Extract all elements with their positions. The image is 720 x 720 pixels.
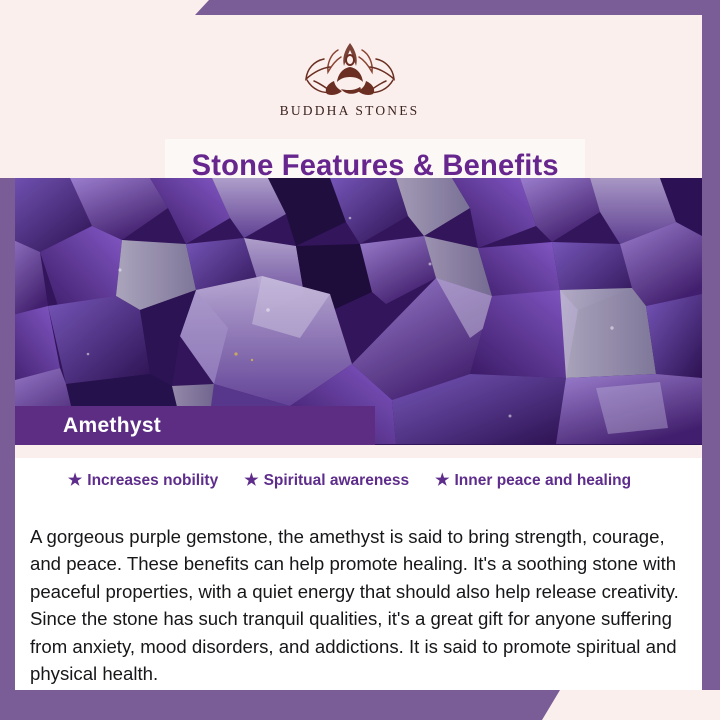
top-accent-band <box>195 0 720 15</box>
benefit-item-1: ★ Increases nobility <box>68 472 218 490</box>
right-accent-band <box>702 0 720 690</box>
benefit-label-1: Increases nobility <box>87 472 218 490</box>
amethyst-hero-image <box>0 178 702 445</box>
brand-name: BUDDHA STONES <box>280 103 420 119</box>
stone-description: A gorgeous purple gemstone, the amethyst… <box>30 523 686 688</box>
benefit-item-3: ★ Inner peace and healing <box>435 472 631 490</box>
bottom-right-cream-corner <box>540 690 720 720</box>
infographic-page: BUDDHA STONES Stone Features & Benefits <box>0 0 720 720</box>
lotus-meditation-icon <box>294 37 406 99</box>
benefits-row: ★ Increases nobility ★ Spiritual awarene… <box>15 466 702 496</box>
cream-divider-strip <box>15 445 702 458</box>
star-icon: ★ <box>435 473 449 489</box>
star-icon: ★ <box>244 473 258 489</box>
stone-name-label: Amethyst <box>15 414 161 438</box>
bottom-accent-band <box>0 690 560 720</box>
left-accent-band <box>0 178 15 720</box>
header-inner: BUDDHA STONES Stone Features & Benefits <box>15 15 702 178</box>
star-icon: ★ <box>68 473 82 489</box>
benefit-label-3: Inner peace and healing <box>455 472 632 490</box>
amethyst-crystal-illustration <box>0 178 702 445</box>
benefit-label-2: Spiritual awareness <box>264 472 410 490</box>
brand-logo: BUDDHA STONES <box>15 37 684 129</box>
benefit-item-2: ★ Spiritual awareness <box>244 472 409 490</box>
header-section: BUDDHA STONES Stone Features & Benefits <box>0 0 702 178</box>
stone-name-bar: Amethyst <box>15 406 375 446</box>
